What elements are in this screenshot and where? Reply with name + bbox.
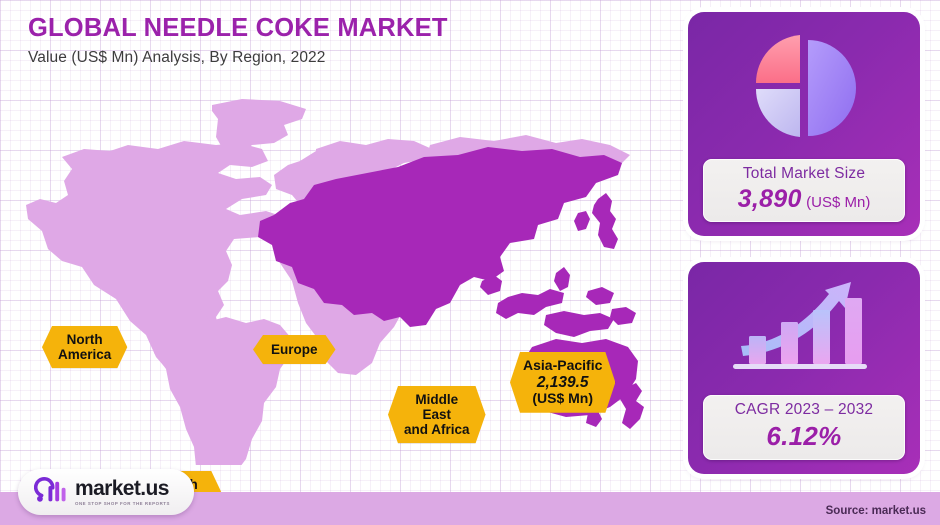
label-line: America: [58, 347, 111, 362]
card-total-market-size: Total Market Size 3,890 (US$ Mn): [688, 12, 920, 236]
map-label-europe: Europe: [253, 335, 336, 364]
source-label: Source: market.us: [826, 505, 926, 517]
asia-pacific-value: 2,139.5: [523, 374, 602, 391]
asia-pacific-unit: (US$ Mn): [523, 391, 602, 407]
growth-chart-graphic: [688, 262, 920, 395]
pie-chart-icon: [739, 26, 869, 146]
market-size-value-row: 3,890 (US$ Mn): [707, 185, 901, 214]
label-line: Europe: [271, 342, 318, 357]
world-map: North America Europe South America Middl…: [0, 95, 680, 465]
label-line: and Africa: [404, 422, 470, 437]
logo-text: market.us ONE STOP SHOP FOR THE REPORTS: [75, 478, 170, 506]
page-title: GLOBAL NEEDLE COKE MARKET: [28, 14, 448, 42]
page-subtitle: Value (US$ Mn) Analysis, By Region, 2022: [28, 49, 448, 67]
map-label-middle-east-and-africa: Middle East and Africa: [388, 386, 486, 443]
market-size-unit: (US$ Mn): [806, 194, 870, 211]
cagr-plate: CAGR 2023 – 2032 6.12%: [703, 395, 905, 460]
card-cagr: CAGR 2023 – 2032 6.12%: [688, 262, 920, 474]
growth-bar-chart-icon: [729, 274, 879, 384]
market-us-logo-icon: [34, 477, 68, 507]
cagr-value: 6.12%: [766, 421, 841, 451]
label-line: North: [58, 332, 111, 347]
cagr-value-row: 6.12%: [707, 421, 901, 452]
label-line: Middle: [404, 392, 470, 407]
map-label-asia-pacific: Asia-Pacific 2,139.5 (US$ Mn): [510, 352, 615, 413]
market-size-plate: Total Market Size 3,890 (US$ Mn): [703, 159, 905, 222]
cagr-label: CAGR 2023 – 2032: [707, 401, 901, 420]
label-line: Asia-Pacific: [523, 358, 602, 374]
logo-wordmark: market.us: [75, 478, 170, 499]
header: GLOBAL NEEDLE COKE MARKET Value (US$ Mn)…: [28, 14, 448, 67]
label-line: East: [404, 407, 470, 422]
logo-tagline: ONE STOP SHOP FOR THE REPORTS: [75, 501, 170, 506]
pie-chart-graphic: [688, 12, 920, 159]
market-us-logo[interactable]: market.us ONE STOP SHOP FOR THE REPORTS: [18, 469, 194, 515]
map-label-north-america: North America: [42, 326, 127, 368]
infographic-root: GLOBAL NEEDLE COKE MARKET Value (US$ Mn)…: [0, 0, 940, 525]
market-size-label: Total Market Size: [707, 165, 901, 184]
market-size-value: 3,890: [738, 185, 802, 213]
